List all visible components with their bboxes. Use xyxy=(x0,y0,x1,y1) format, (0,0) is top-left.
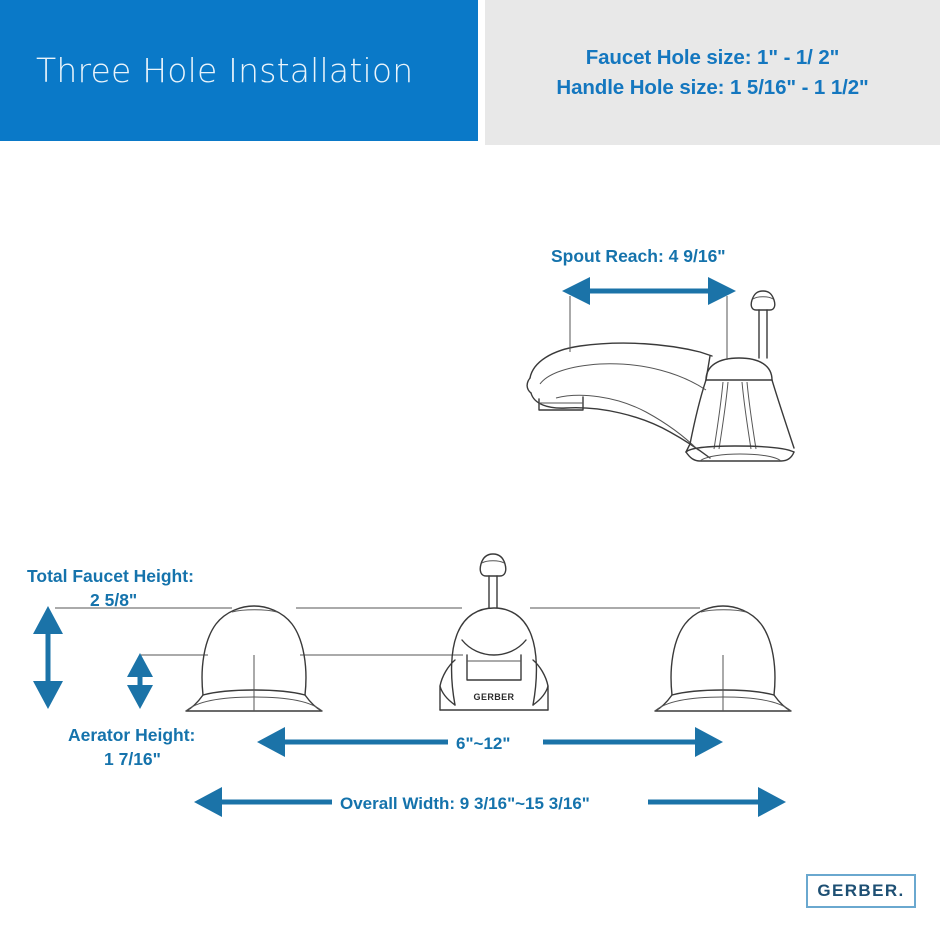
spout-side-view xyxy=(527,291,794,461)
aerator-height-label: Aerator Height: xyxy=(68,724,195,746)
page-title: Three Hole Installation xyxy=(0,51,413,90)
gerber-logo-text: GERBER. xyxy=(817,881,904,901)
center-spout-front-view: GERBER xyxy=(440,554,548,710)
right-handle-front-view xyxy=(655,606,791,711)
gerber-brand-mark: GERBER xyxy=(474,692,515,702)
header-title-banner: Three Hole Installation xyxy=(0,0,478,141)
faucet-hole-size-text: Faucet Hole size: 1" - 1/ 2" xyxy=(586,43,840,72)
spout-reach-extension-lines xyxy=(570,296,727,360)
center-spread-label: 6"~12" xyxy=(456,733,510,755)
overall-width-label: Overall Width: 9 3/16"~15 3/16" xyxy=(340,793,590,815)
aerator-height-arrow xyxy=(127,653,153,709)
hole-size-spec-panel: Faucet Hole size: 1" - 1/ 2" Handle Hole… xyxy=(485,0,940,145)
header: Three Hole Installation Faucet Hole size… xyxy=(0,0,940,146)
handle-hole-size-text: Handle Hole size: 1 5/16" - 1 1/2" xyxy=(556,73,868,102)
spout-reach-label: Spout Reach: 4 9/16" xyxy=(551,245,726,267)
gerber-logo: GERBER. xyxy=(806,874,916,908)
height-reference-lines xyxy=(55,608,700,655)
diagram-page: Three Hole Installation Faucet Hole size… xyxy=(0,0,940,940)
total-faucet-height-label: Total Faucet Height: xyxy=(27,565,194,587)
total-faucet-height-value: 2 5/8" xyxy=(90,589,137,611)
spout-reach-arrow xyxy=(562,277,736,305)
aerator-height-value: 1 7/16" xyxy=(104,748,161,770)
total-faucet-height-arrow xyxy=(33,606,63,709)
left-handle-front-view xyxy=(186,606,322,711)
